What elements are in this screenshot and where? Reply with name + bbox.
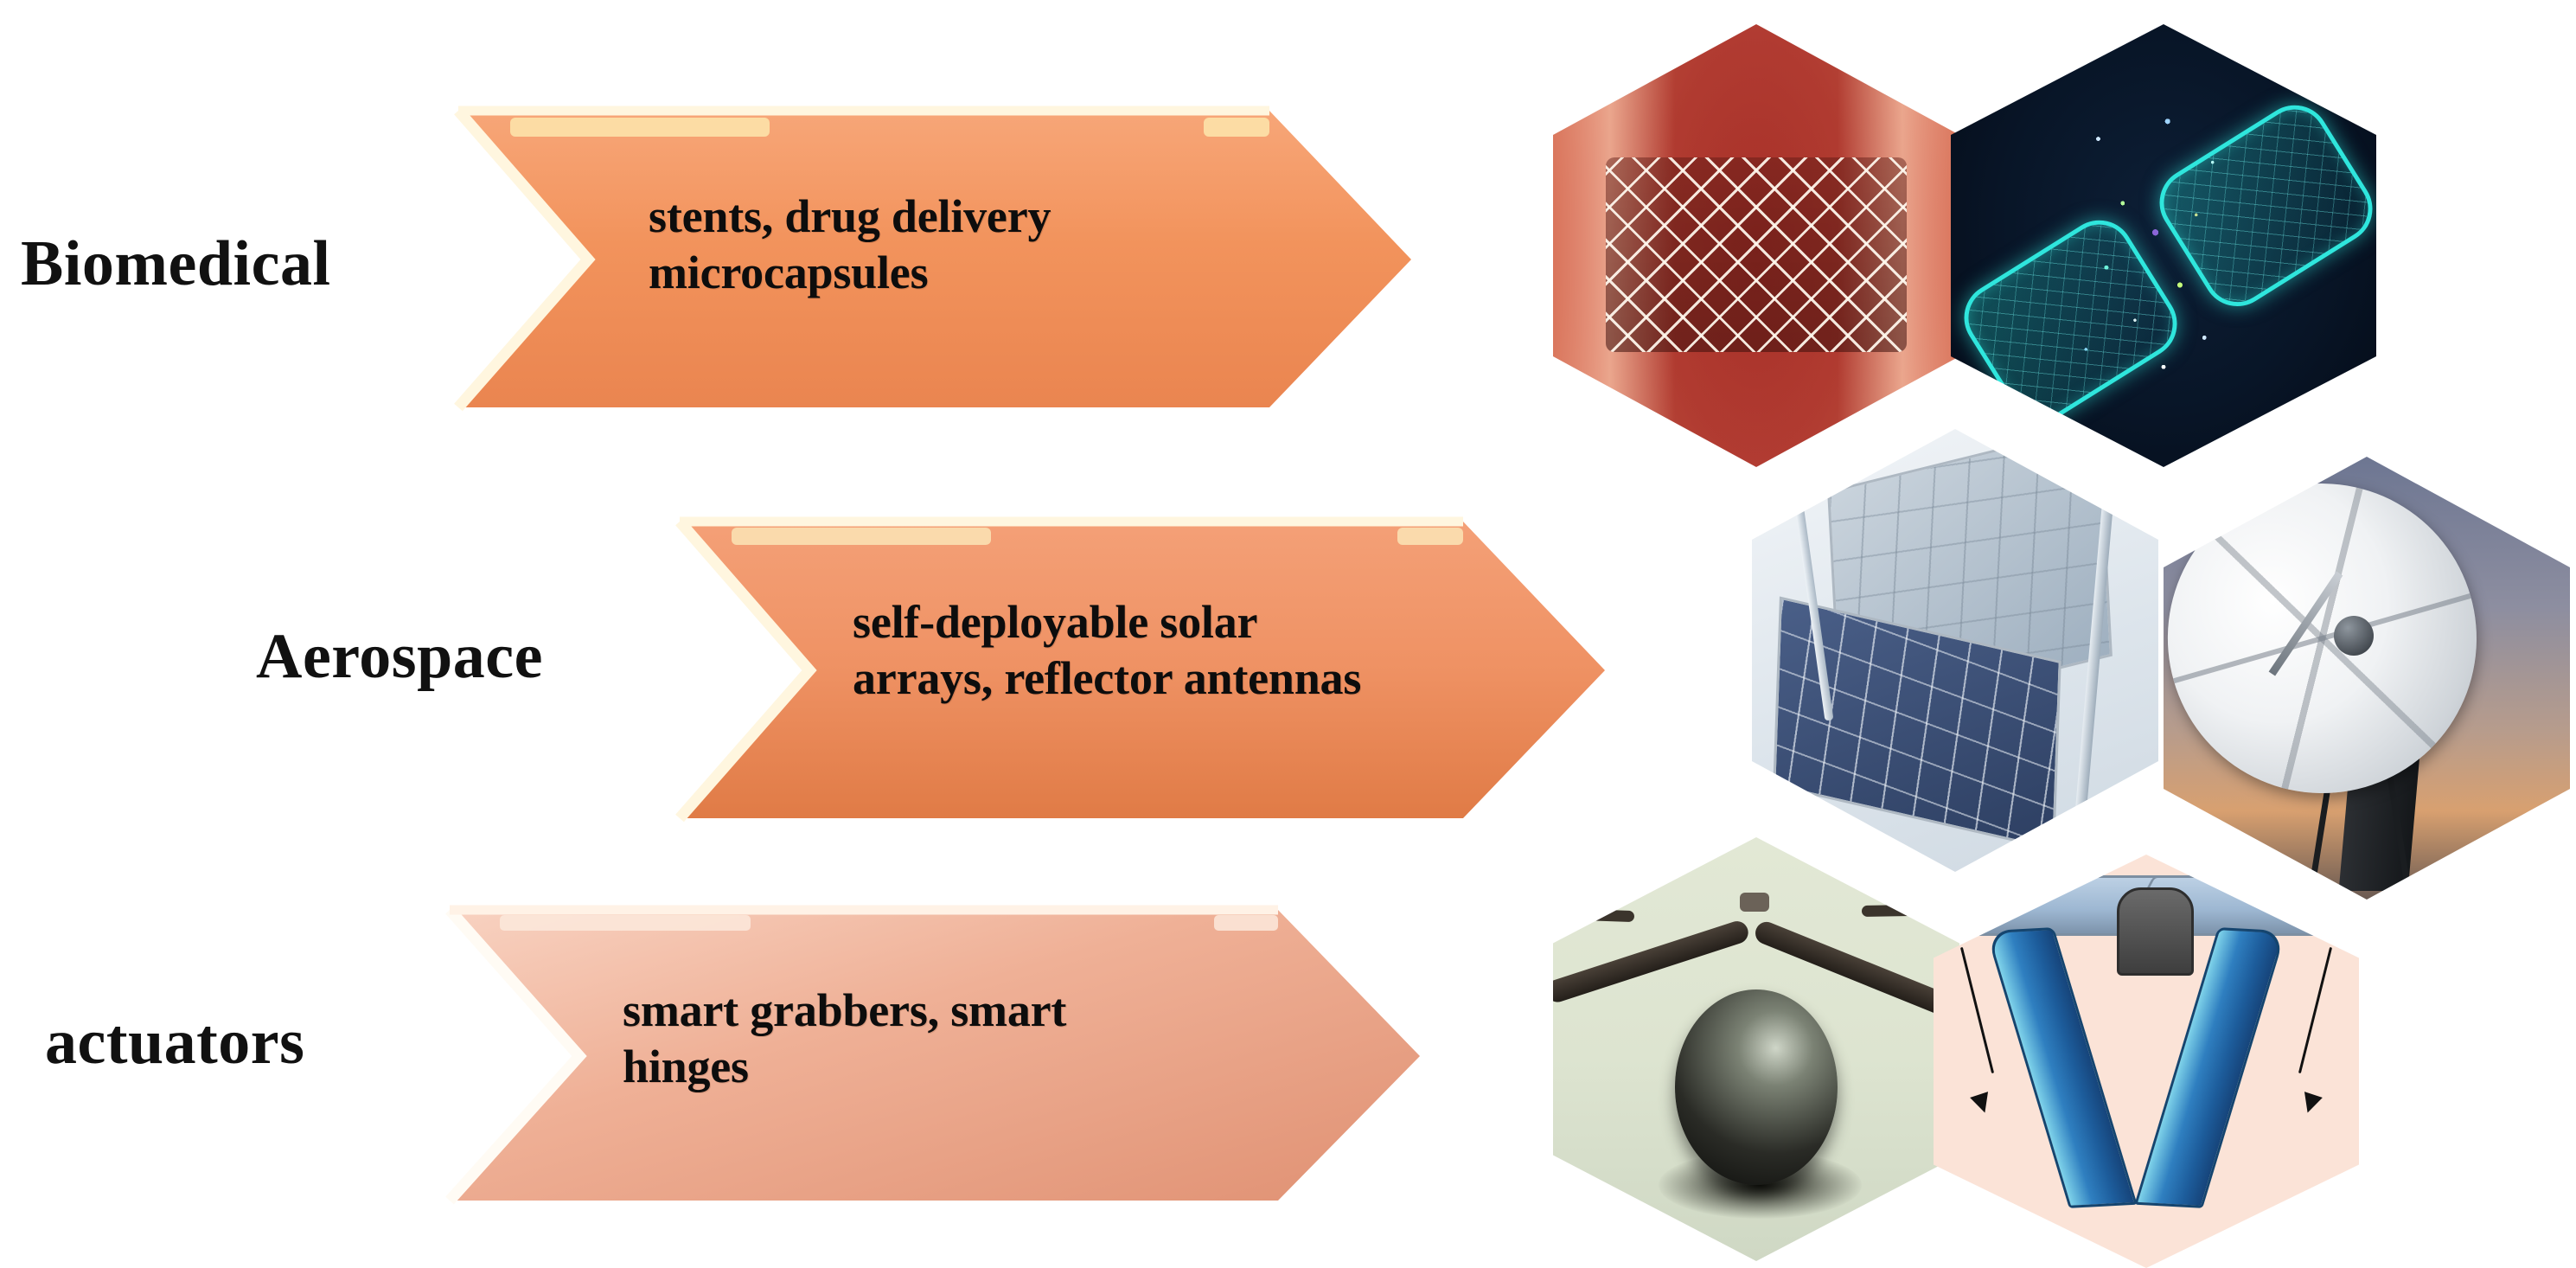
hex-image-self-deployable-solar-array xyxy=(1752,429,2158,872)
grabber-tail-left-icon xyxy=(1553,907,1634,922)
hinge-arrowhead-left-icon xyxy=(1970,1092,1994,1116)
arrow-banner-aerospace[interactable]: self-deployable solar arrays, reflector … xyxy=(680,516,1605,823)
arrow-banner-actuators[interactable]: smart grabbers, smart hinges xyxy=(450,905,1420,1206)
grabber-tail-right-icon xyxy=(1862,904,1959,917)
arrow-text-aerospace: self-deployable solar arrays, reflector … xyxy=(853,594,1361,707)
hex-image-reflector-antenna-dish xyxy=(2164,457,2570,900)
hinge-leg-left-icon xyxy=(1985,927,2138,1208)
arrow-banner-biomedical[interactable]: stents, drug delivery microcapsules xyxy=(458,106,1411,413)
hinge-motion-arrow-left-icon xyxy=(1960,947,1994,1073)
grabber-arm-left-icon xyxy=(1553,919,1752,1005)
hinge-arrowhead-right-icon xyxy=(2298,1092,2323,1116)
stent-mesh-icon xyxy=(1606,157,1907,352)
grabbed-sphere-icon xyxy=(1675,989,1838,1184)
category-label-biomedical: Biomedical xyxy=(21,232,331,296)
hex-image-smart-hinge xyxy=(1934,855,2359,1268)
grabber-pivot-icon xyxy=(1740,893,1769,912)
hinge-motion-arrow-right-icon xyxy=(2298,947,2332,1073)
diagram-canvas: Biomedical stents, drug delivery microca… xyxy=(0,0,2576,1268)
category-label-actuators: actuators xyxy=(45,1010,304,1074)
hinge-cap-icon xyxy=(2117,887,2195,976)
hex-image-smart-grabber xyxy=(1553,837,1959,1261)
hex-image-stent-in-blood-vessel xyxy=(1553,24,1959,467)
arrow-text-biomedical: stents, drug delivery microcapsules xyxy=(649,189,1051,301)
category-label-aerospace: Aerospace xyxy=(256,624,543,688)
arrow-text-actuators: smart grabbers, smart hinges xyxy=(623,983,1066,1095)
hex-image-drug-delivery-microcapsule xyxy=(1951,24,2376,467)
